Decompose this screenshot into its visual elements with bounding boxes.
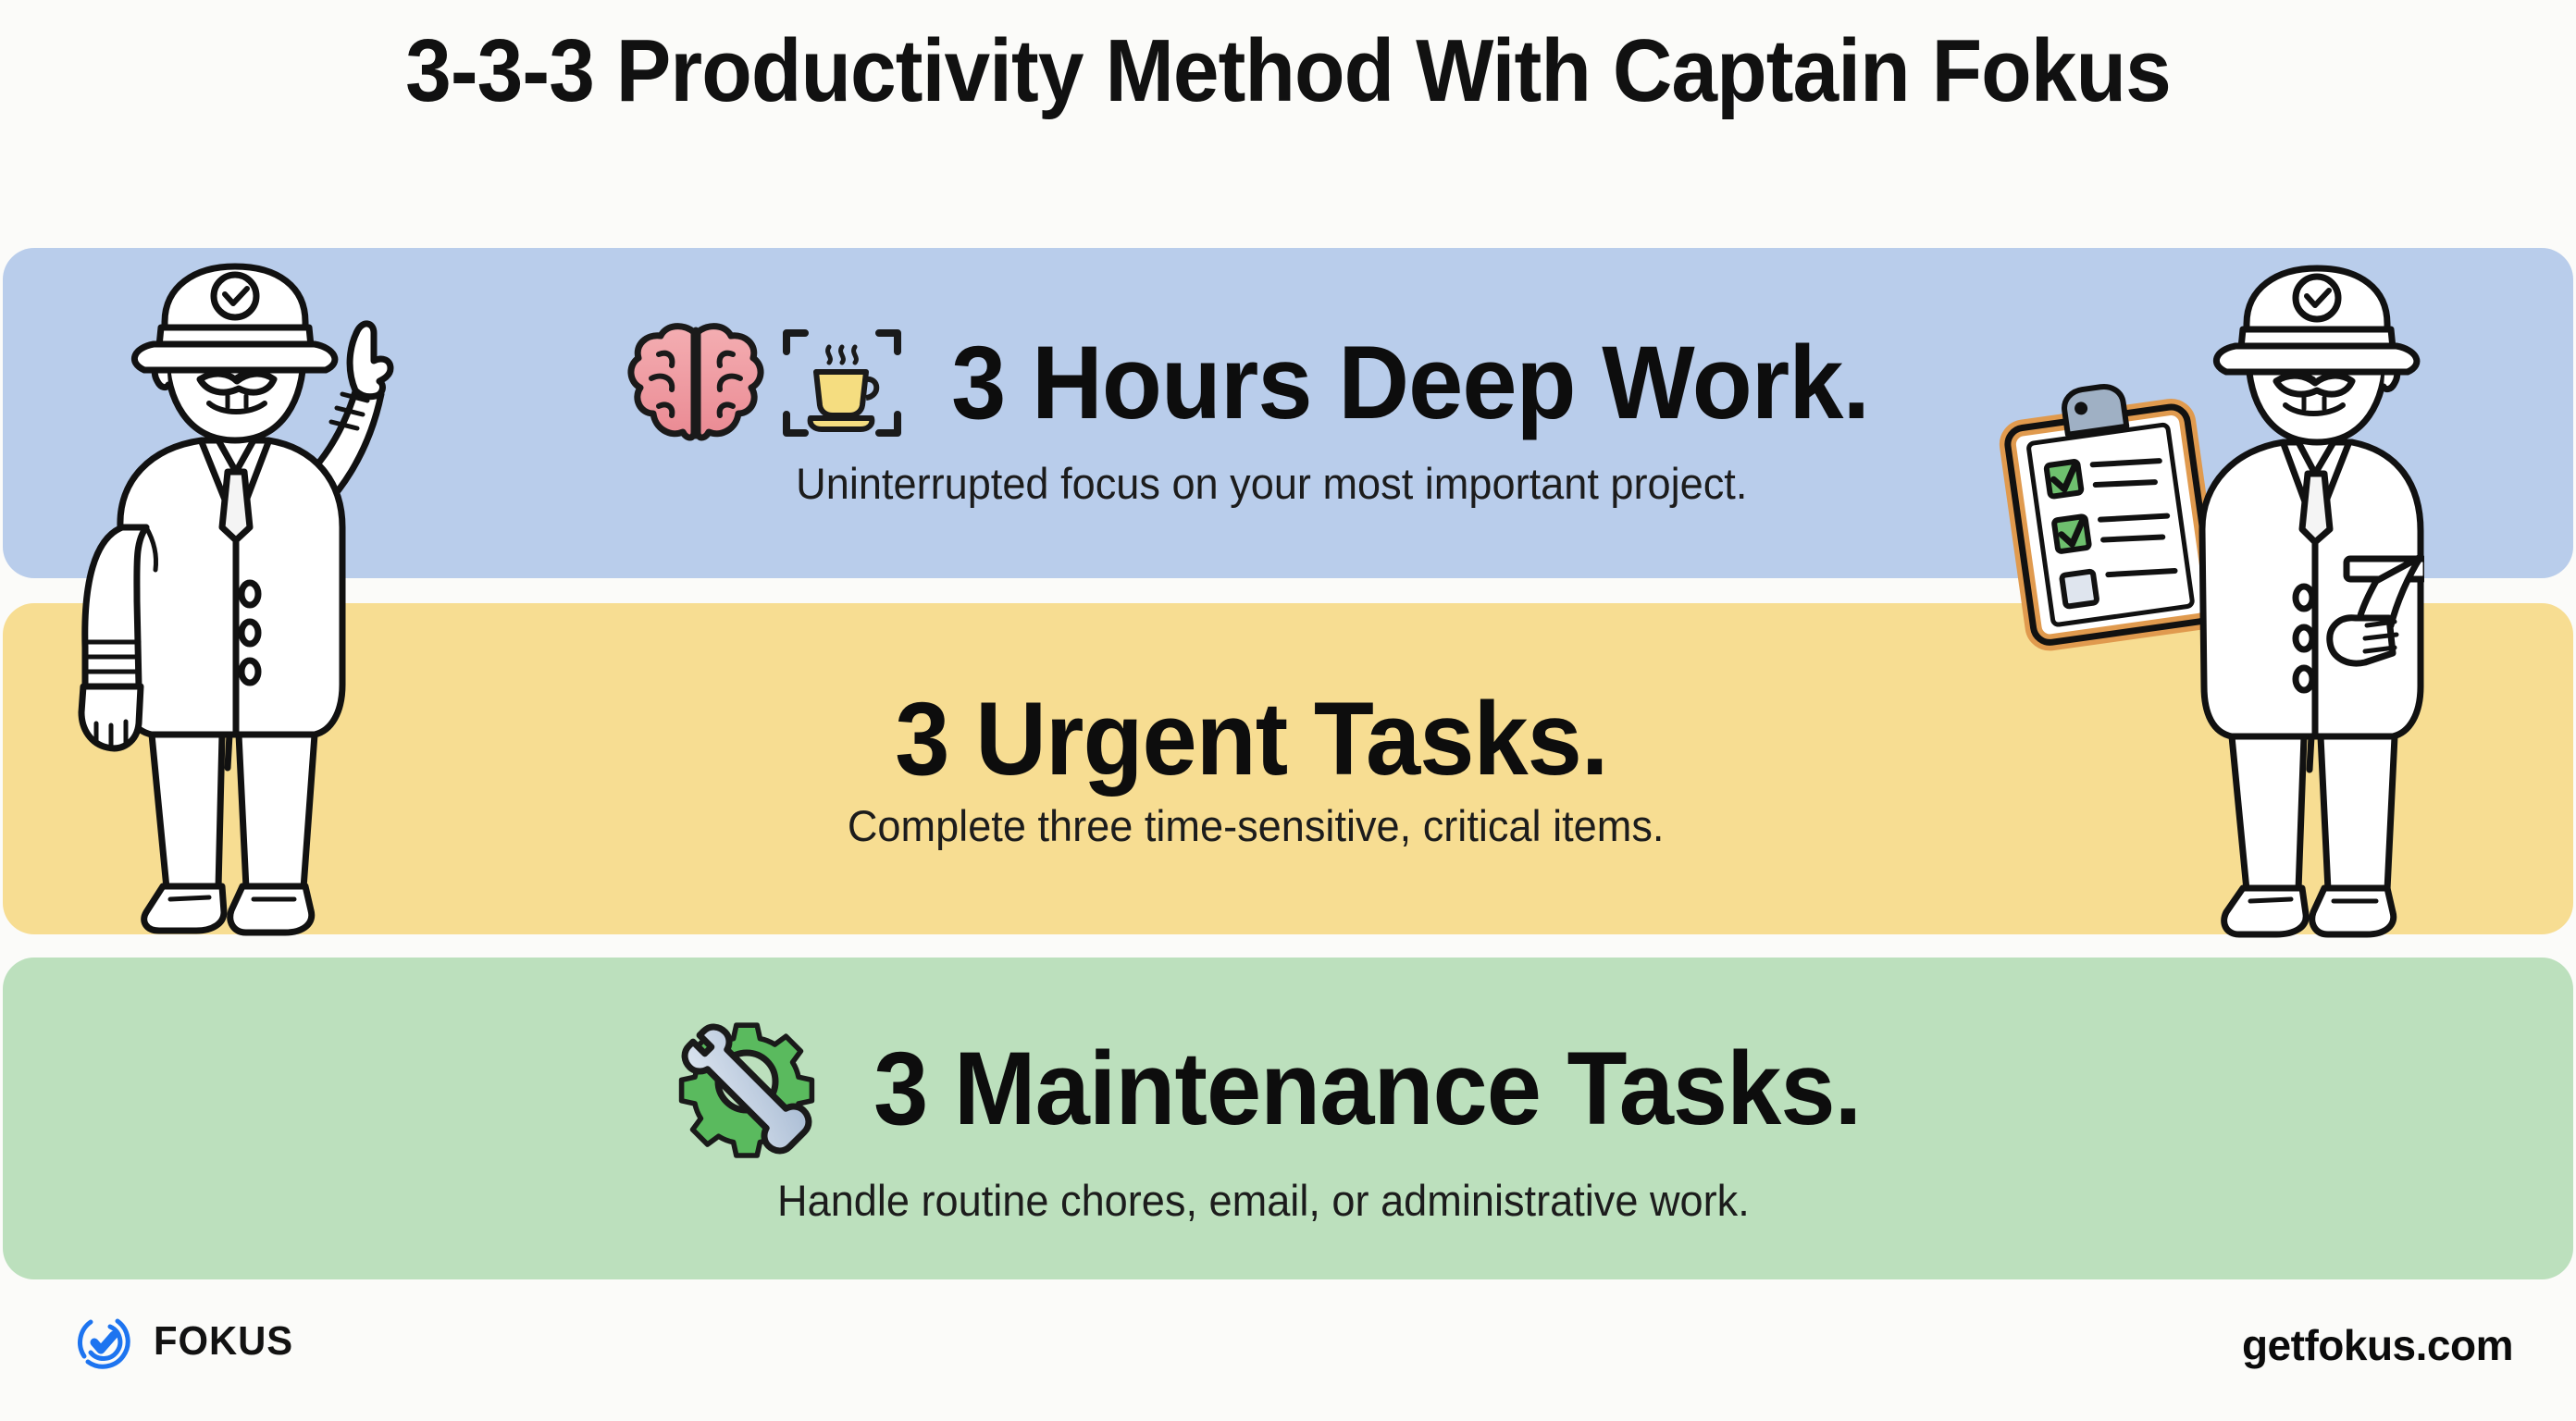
coffee-cup-focus-icon [777, 318, 907, 448]
brand-label: FOKUS [154, 1318, 293, 1365]
captain-left-illustration [37, 250, 426, 985]
band-deep-work-subline: Uninterrupted focus on your most importa… [797, 458, 1748, 509]
band-maintenance-tasks-subline: Handle routine chores, email, or adminis… [777, 1175, 1750, 1226]
band-urgent-tasks-subline: Complete three time-sensitive, critical … [848, 800, 1665, 851]
band-maintenance-tasks: 3 Maintenance Tasks. Handle routine chor… [3, 958, 2573, 1279]
fokus-logo-icon [72, 1311, 133, 1372]
band-deep-work-icons [627, 317, 907, 449]
band-deep-work-headline: 3 Hours Deep Work. [951, 331, 1869, 435]
website-label[interactable]: getfokus.com [2242, 1320, 2513, 1370]
gear-wrench-icon [670, 1012, 824, 1166]
footer: FOKUS getfokus.com [0, 1279, 2576, 1421]
page-title: 3-3-3 Productivity Method With Captain F… [90, 20, 2485, 122]
band-urgent-tasks-headline: 3 Urgent Tasks. [895, 687, 1607, 791]
brand-block: FOKUS [72, 1311, 301, 1372]
captain-right-illustration [1989, 252, 2424, 987]
brain-icon [627, 317, 764, 449]
band-maintenance-tasks-headline: 3 Maintenance Tasks. [873, 1037, 1861, 1141]
infographic-canvas: 3-3-3 Productivity Method With Captain F… [0, 0, 2576, 1421]
